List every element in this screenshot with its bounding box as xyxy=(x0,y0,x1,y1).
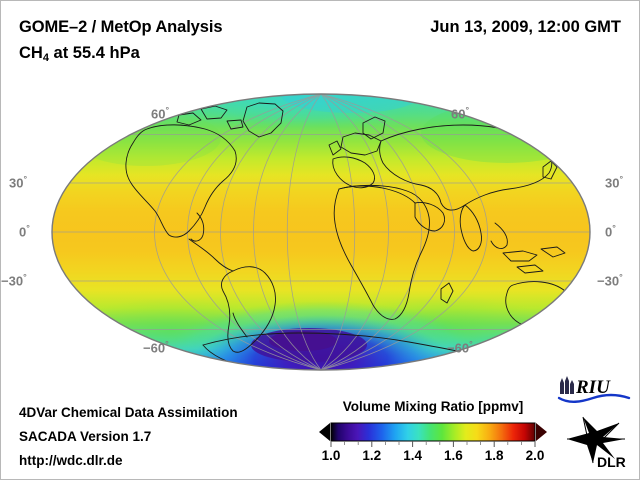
figure-frame: GOME–2 / MetOp Analysis CH4 at 55.4 hPa … xyxy=(0,0,640,480)
colorbar-tick-3: 1.4 xyxy=(403,448,422,463)
lat-label-left-0: 0° xyxy=(19,223,30,239)
species-suffix: at 55.4 hPa xyxy=(49,44,140,62)
riu-logo-text: RIU xyxy=(575,377,611,398)
colorbar-tick-labels: 1.0 1.2 1.4 1.6 1.8 2.0 xyxy=(319,448,547,466)
riu-towers-icon xyxy=(560,376,574,394)
dlr-logo: DLR xyxy=(563,413,631,469)
footer-line-version: SACADA Version 1.7 xyxy=(19,429,151,444)
timestamp-label: Jun 13, 2009, 12:00 GMT xyxy=(430,18,621,37)
colorbar: Volume Mixing Ratio [ppmv] xyxy=(319,399,547,466)
lat-label-left-30n: 30° xyxy=(9,174,27,190)
species-level-label: CH4 at 55.4 hPa xyxy=(19,44,140,63)
world-map: 30° 0° −30° 60° −60° 30° 0° −30° 60° −60… xyxy=(51,93,591,371)
lat-label-left-60n: 60° xyxy=(151,105,169,121)
footer-line-url[interactable]: http://wdc.dlr.de xyxy=(19,453,123,468)
dlr-logo-text: DLR xyxy=(597,454,626,469)
figure-title: GOME–2 / MetOp Analysis xyxy=(19,18,222,37)
footer-line-method: 4DVar Chemical Data Assimilation xyxy=(19,405,238,420)
colorbar-swatch xyxy=(319,421,547,447)
mollweide-map-svg xyxy=(51,93,591,371)
colorbar-tick-5: 1.8 xyxy=(485,448,504,463)
colorbar-title: Volume Mixing Ratio [ppmv] xyxy=(319,399,547,414)
colorbar-tick-6: 2.0 xyxy=(526,448,545,463)
colorbar-major-ticks xyxy=(331,441,535,447)
colorbar-over-arrow xyxy=(536,423,547,441)
lat-label-right-30s: −30° xyxy=(597,272,623,288)
lat-label-right-60n: 60° xyxy=(451,105,469,121)
lat-label-right-60s: −60° xyxy=(447,339,473,355)
colorbar-under-arrow xyxy=(319,423,330,441)
lat-label-left-60s: −60° xyxy=(143,339,169,355)
colorbar-tick-1: 1.0 xyxy=(322,448,341,463)
riu-logo: RIU xyxy=(557,375,631,405)
lat-label-right-30n: 30° xyxy=(605,174,623,190)
colorbar-tick-2: 1.2 xyxy=(362,448,381,463)
species-subscript: 4 xyxy=(43,52,49,64)
lat-label-left-30s: −30° xyxy=(1,272,27,288)
colorbar-minor-ticks xyxy=(345,441,522,445)
lat-label-right-0: 0° xyxy=(605,223,616,239)
colorbar-tick-4: 1.6 xyxy=(444,448,463,463)
species-prefix: CH xyxy=(19,44,43,62)
